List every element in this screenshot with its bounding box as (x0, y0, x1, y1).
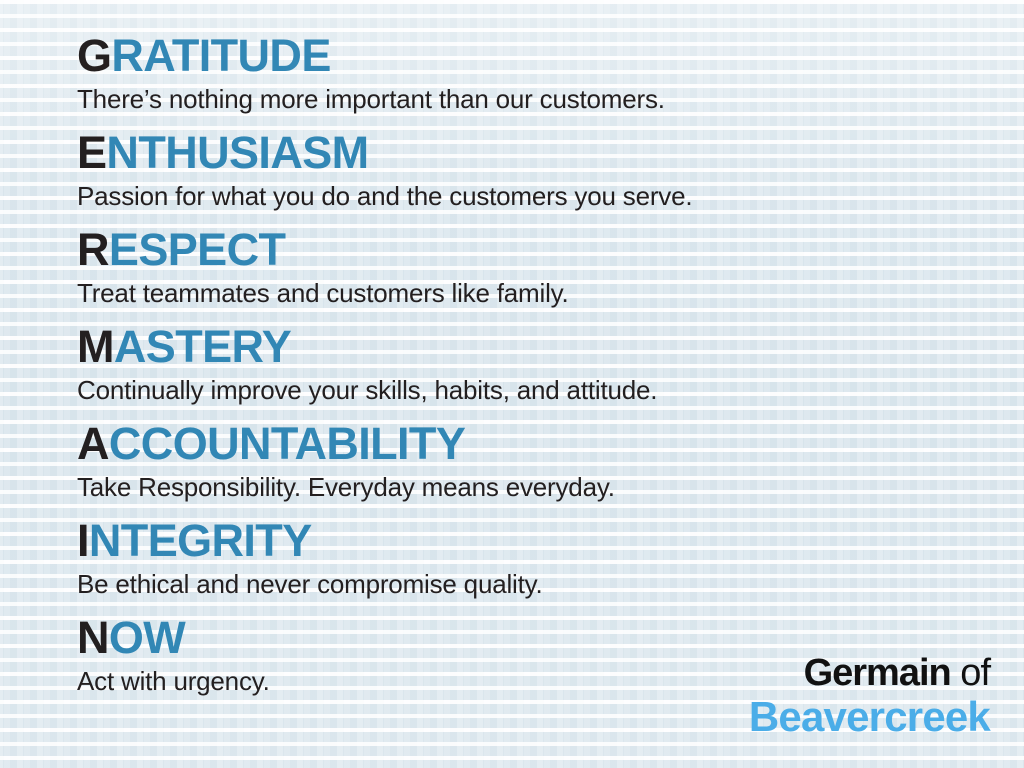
value-initial-letter: E (77, 127, 106, 178)
value-description-enthusiasm: Passion for what you do and the customer… (77, 179, 1024, 213)
value-word-remainder: ESPECT (109, 224, 285, 275)
value-block-respect: RESPECT Treat teammates and customers li… (77, 224, 1024, 310)
value-description-accountability: Take Responsibility. Everyday means ever… (77, 470, 1024, 504)
dealership-logo: Germain of Beavercreek (749, 652, 990, 740)
logo-line-brand: Germain of (749, 652, 990, 694)
value-heading-gratitude: GRATITUDE (77, 30, 1024, 82)
value-heading-accountability: ACCOUNTABILITY (77, 418, 1024, 470)
value-word-remainder: NTHUSIASM (106, 127, 368, 178)
value-word-remainder: CCOUNTABILITY (109, 418, 465, 469)
value-heading-integrity: INTEGRITY (77, 515, 1024, 567)
value-initial-letter: N (77, 612, 109, 663)
logo-connector-word: of (951, 652, 990, 694)
value-word-remainder: NTEGRITY (89, 515, 312, 566)
logo-brand-name: Germain (804, 652, 951, 694)
value-heading-enthusiasm: ENTHUSIASM (77, 127, 1024, 179)
value-block-mastery: MASTERY Continually improve your skills,… (77, 321, 1024, 407)
value-initial-letter: G (77, 30, 111, 81)
value-word-remainder: OW (109, 612, 185, 663)
value-word-remainder: ASTERY (114, 321, 291, 372)
value-block-gratitude: GRATITUDE There’s nothing more important… (77, 30, 1024, 116)
value-description-mastery: Continually improve your skills, habits,… (77, 373, 1024, 407)
logo-location-name: Beavercreek (749, 694, 990, 740)
value-description-integrity: Be ethical and never compromise quality. (77, 567, 1024, 601)
values-list: GRATITUDE There’s nothing more important… (0, 0, 1024, 698)
value-heading-respect: RESPECT (77, 224, 1024, 276)
value-word-remainder: RATITUDE (111, 30, 330, 81)
value-block-accountability: ACCOUNTABILITY Take Responsibility. Ever… (77, 418, 1024, 504)
value-block-integrity: INTEGRITY Be ethical and never compromis… (77, 515, 1024, 601)
value-initial-letter: R (77, 224, 109, 275)
value-heading-mastery: MASTERY (77, 321, 1024, 373)
value-description-respect: Treat teammates and customers like famil… (77, 276, 1024, 310)
value-initial-letter: M (77, 321, 114, 372)
values-poster: GRATITUDE There’s nothing more important… (0, 0, 1024, 768)
value-initial-letter: I (77, 515, 89, 566)
value-block-enthusiasm: ENTHUSIASM Passion for what you do and t… (77, 127, 1024, 213)
value-description-gratitude: There’s nothing more important than our … (77, 82, 1024, 116)
value-initial-letter: A (77, 418, 109, 469)
